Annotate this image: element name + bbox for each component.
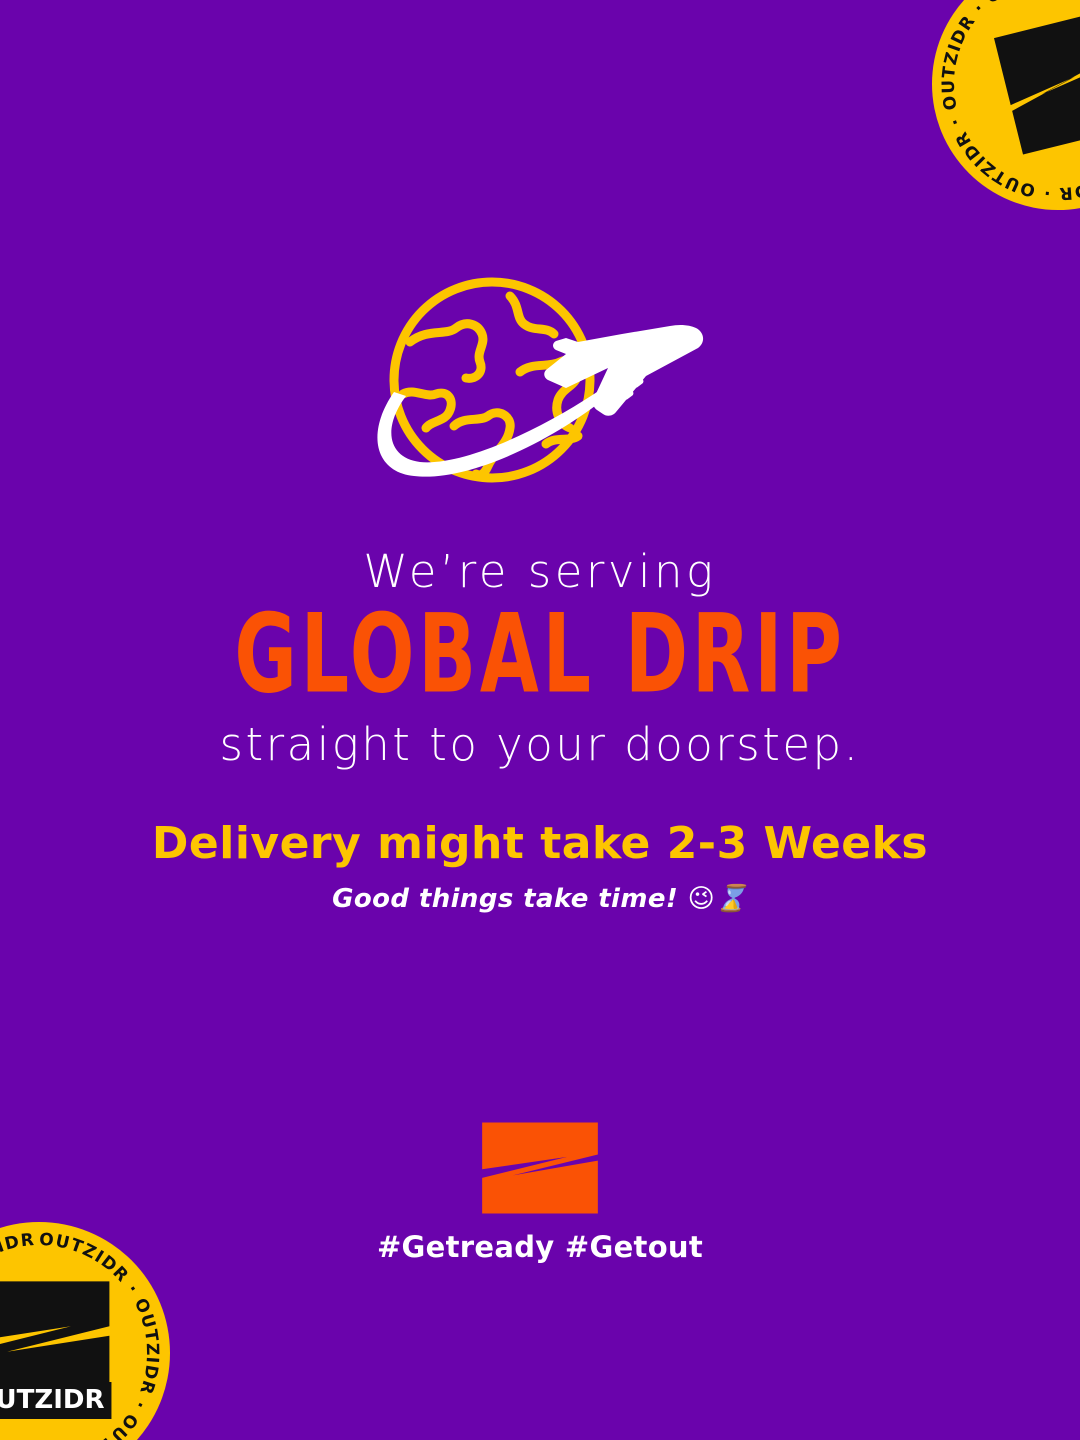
delivery-estimate: Delivery might take 2-3 Weeks (0, 820, 1080, 868)
delivery-note: Good things take time! 😉⌛ (0, 884, 1080, 915)
z-logo-icon (478, 1120, 602, 1216)
hero-illustration (0, 276, 1080, 500)
footer-block: #Getready #Getout (0, 1120, 1080, 1264)
subline-text: straight to your doorstep. (0, 721, 1080, 768)
badge-top-right: OUTZIDR · OUTZIDR · OUTZIDR · OUTZIDR · … (932, 0, 1080, 210)
badge-z-mark-top-right (983, 9, 1080, 159)
brand-logo (0, 1120, 1080, 1216)
hashtags-text: #Getready #Getout (0, 1230, 1080, 1264)
headline-text: GLOBAL DRIP (43, 601, 1037, 710)
headline-block: We’re serving GLOBAL DRIP straight to yo… (0, 548, 1080, 769)
poster-canvas: OUTZIDR · OUTZIDR · OUTZIDR · OUTZIDR · … (0, 0, 1080, 1440)
delivery-block: Delivery might take 2-3 Weeks Good thing… (0, 820, 1080, 916)
badge-wordmark: OUTZIDR (0, 1382, 112, 1419)
eyebrow-text: We’re serving (0, 548, 1080, 595)
globe-airplane-icon (370, 276, 710, 500)
